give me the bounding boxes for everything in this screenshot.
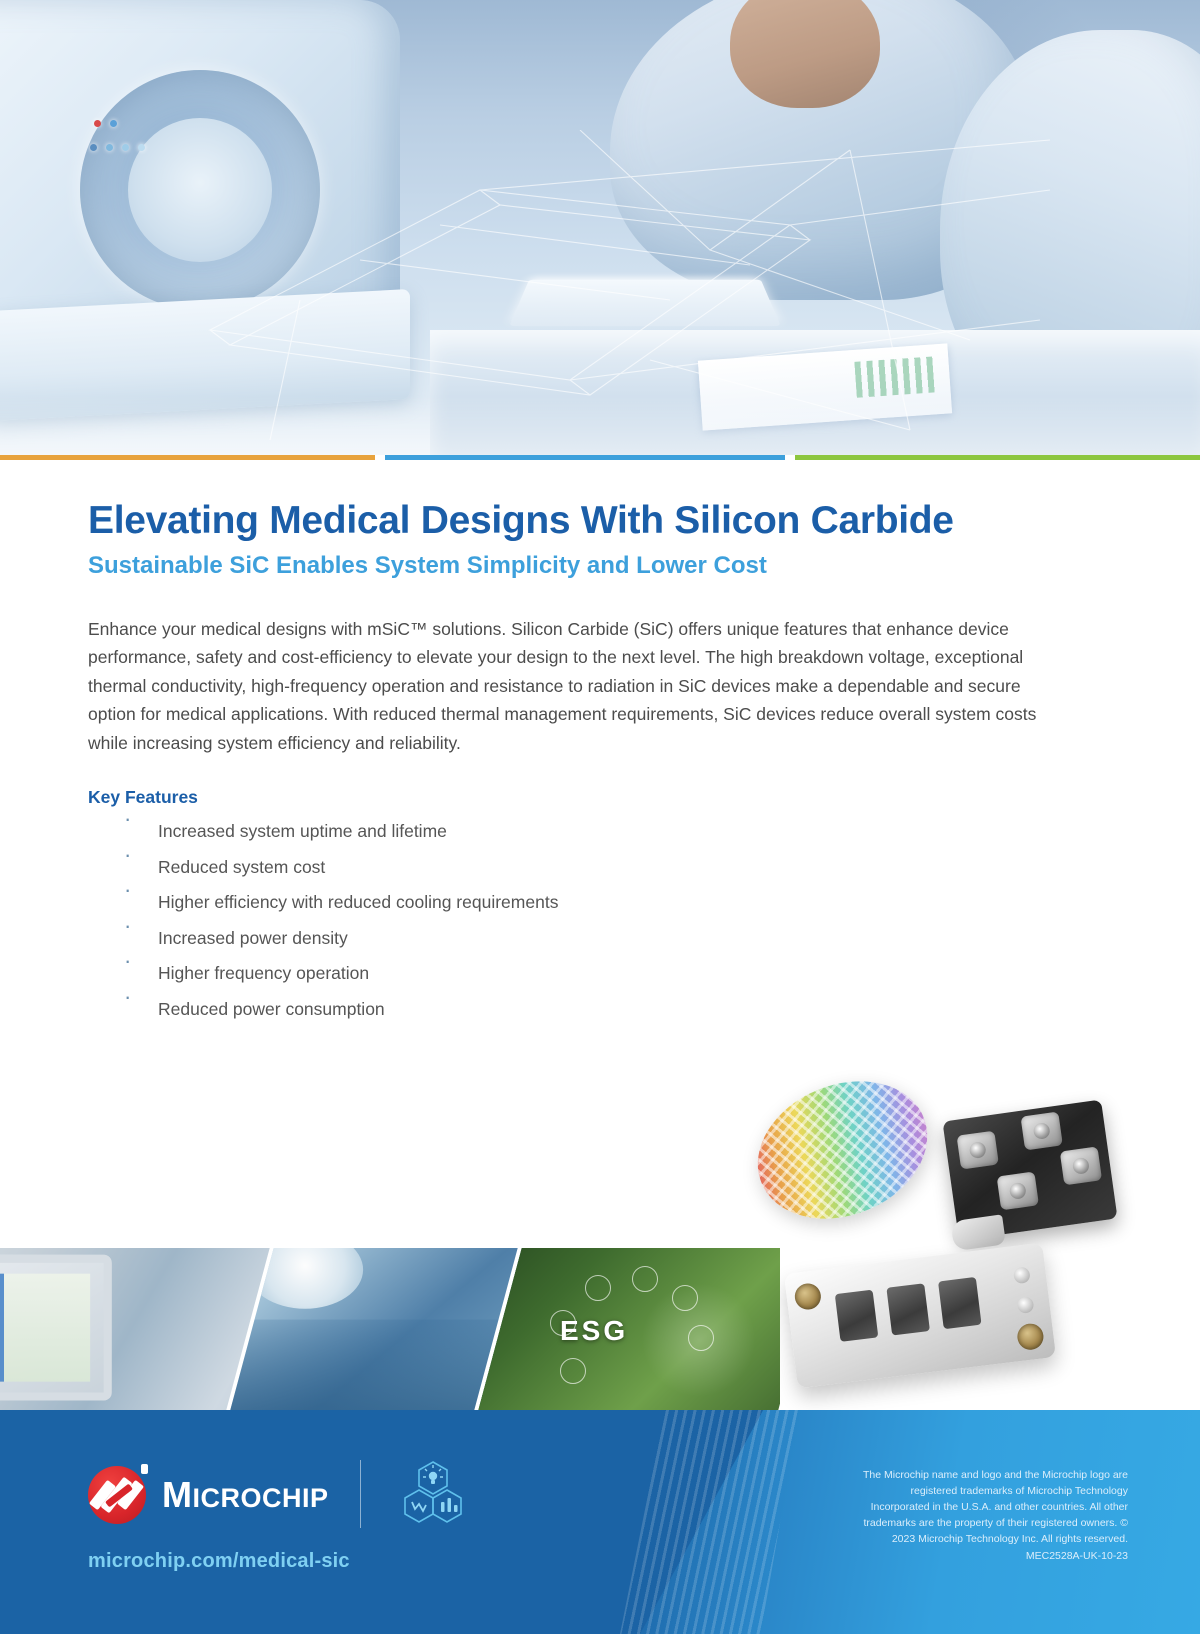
module-mounting-hole <box>793 1282 822 1311</box>
document-code: MEC2528A-UK-10-23 <box>858 1549 1128 1565</box>
list-item: Increased power density <box>124 921 1200 957</box>
accent-segment-green <box>795 455 1200 460</box>
list-item: Reduced power consumption <box>124 992 1200 1028</box>
module-pin <box>1013 1266 1031 1284</box>
hero-banner <box>0 0 1200 455</box>
list-item: Reduced system cost <box>124 850 1200 886</box>
hero-bottom-fade <box>0 395 1200 455</box>
microchip-logo[interactable]: ® MICROCHIP <box>88 1466 329 1524</box>
module-mounting-hole <box>1016 1322 1045 1351</box>
page-title: Elevating Medical Designs With Silicon C… <box>88 470 1200 544</box>
module-terminal <box>1060 1146 1102 1185</box>
accent-gap-1 <box>375 455 385 460</box>
esg-icon-ring <box>672 1285 698 1311</box>
legal-text: The Microchip name and logo and the Micr… <box>858 1468 1128 1565</box>
list-item: Higher efficiency with reduced cooling r… <box>124 885 1200 921</box>
body-paragraph: Enhance your medical designs with mSiC™ … <box>88 615 1068 758</box>
accent-segment-orange <box>0 455 375 460</box>
esg-image <box>478 1248 780 1410</box>
footer: ® MICROCHIP microchip.com/medical-sic Th… <box>0 1410 1200 1634</box>
laptop-image <box>509 280 780 326</box>
registered-trademark-symbol: ® <box>141 1464 148 1474</box>
ct-scanner-indicator-lights <box>90 120 160 160</box>
accent-segment-blue <box>385 455 785 460</box>
key-features-heading: Key Features <box>88 787 1200 808</box>
module-terminal <box>997 1171 1039 1210</box>
module-pad <box>835 1290 879 1342</box>
accent-gap-2 <box>785 455 795 460</box>
medical-equipment-image <box>0 1248 272 1410</box>
list-item: Increased system uptime and lifetime <box>124 814 1200 850</box>
esg-icon-ring <box>632 1266 658 1292</box>
hero-photo <box>0 0 1200 455</box>
module-pad <box>938 1277 982 1329</box>
legal-body: The Microchip name and logo and the Micr… <box>863 1469 1128 1545</box>
hexagon-innovation-icon <box>400 1460 466 1526</box>
esg-icon-ring <box>560 1358 586 1384</box>
photo-strip <box>0 1248 780 1410</box>
module-mounting-foot <box>950 1214 1006 1251</box>
module-terminal <box>957 1131 999 1170</box>
logo-word-first-letter: M <box>162 1474 193 1515</box>
footer-divider <box>360 1460 361 1528</box>
module-pad <box>886 1283 930 1335</box>
esg-icon-ring <box>550 1310 576 1336</box>
silicon-wafer-image <box>737 1057 948 1243</box>
power-module-dark-image <box>942 1099 1117 1240</box>
module-pin <box>1017 1296 1035 1314</box>
microchip-logo-wordmark: MICROCHIP <box>162 1474 329 1516</box>
accent-color-bar <box>0 455 1200 460</box>
main-content: Elevating Medical Designs With Silicon C… <box>0 470 1200 1027</box>
logo-word-remainder: ICROCHIP <box>193 1483 329 1513</box>
module-terminal <box>1021 1112 1063 1151</box>
footer-url-link[interactable]: microchip.com/medical-sic <box>88 1550 350 1573</box>
esg-icon-ring <box>585 1275 611 1301</box>
power-module-light-image <box>784 1243 1056 1389</box>
ct-scanner-bore <box>80 70 320 310</box>
microchip-logo-icon: ® <box>88 1466 146 1524</box>
list-item: Higher frequency operation <box>124 956 1200 992</box>
page-subtitle: Sustainable SiC Enables System Simplicit… <box>88 552 1200 581</box>
key-features-list: Increased system uptime and lifetime Red… <box>124 814 1200 1027</box>
esg-icon-ring <box>688 1325 714 1351</box>
